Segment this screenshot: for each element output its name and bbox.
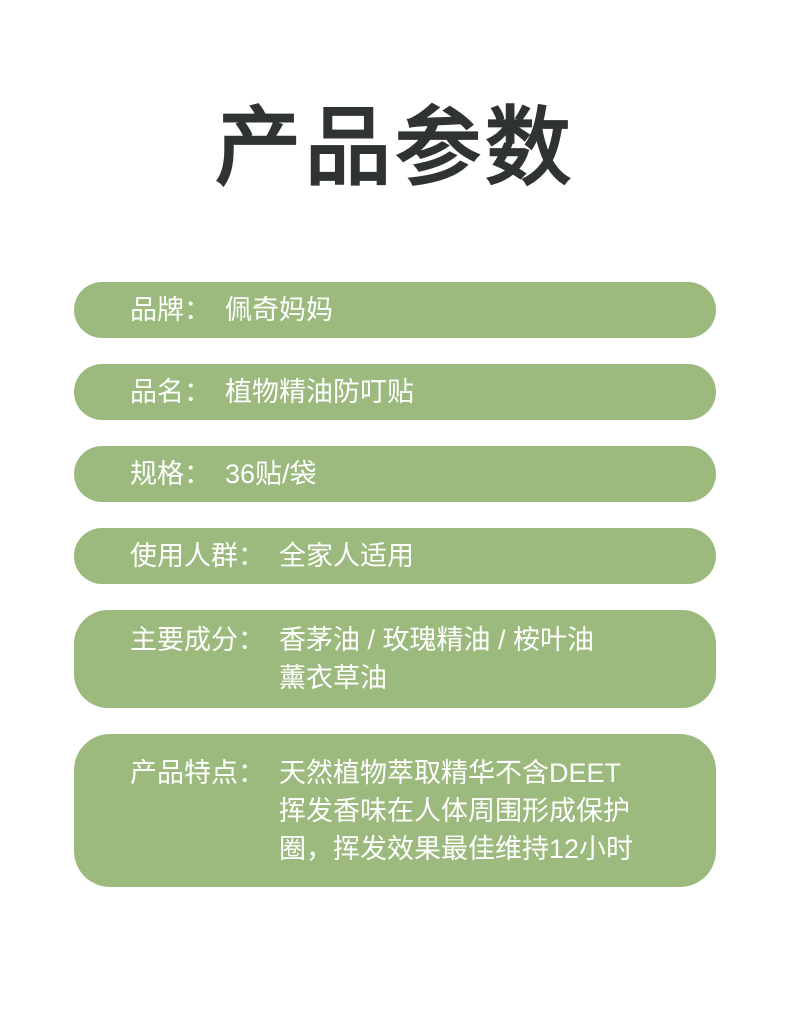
spec-value-line: 全家人适用 xyxy=(279,537,716,575)
spec-label-main-ingredients: 主要成分： xyxy=(130,621,265,659)
spec-label-product-features: 产品特点： xyxy=(130,754,265,792)
spec-value-line: 佩奇妈妈 xyxy=(225,291,716,329)
spec-row-main-ingredients: 主要成分： 香茅油 / 玫瑰精油 / 桉叶油 薰衣草油 xyxy=(74,610,716,708)
spec-row-product-name: 品名： 植物精油防叮贴 xyxy=(74,364,716,420)
spec-row-specification: 规格： 36贴/袋 xyxy=(74,446,716,502)
spec-row-content: 品名： 植物精油防叮贴 xyxy=(130,373,716,411)
spec-values-target-users: 全家人适用 xyxy=(265,537,716,575)
spec-value-line: 天然植物萃取精华不含DEET xyxy=(279,754,716,792)
spec-value-line: 薰衣草油 xyxy=(279,659,716,697)
spec-row-brand: 品牌： 佩奇妈妈 xyxy=(74,282,716,338)
spec-values-brand: 佩奇妈妈 xyxy=(211,291,716,329)
spec-values-product-name: 植物精油防叮贴 xyxy=(211,373,716,411)
product-spec-page: 产品参数 品牌： 佩奇妈妈 品名： 植物精油防叮贴 规格： 3 xyxy=(0,0,790,1020)
spec-row-content: 规格： 36贴/袋 xyxy=(130,455,716,493)
spec-row-content: 主要成分： 香茅油 / 玫瑰精油 / 桉叶油 薰衣草油 xyxy=(130,621,716,697)
spec-row-product-features: 产品特点： 天然植物萃取精华不含DEET 挥发香味在人体周围形成保护 圈，挥发效… xyxy=(74,734,716,887)
spec-value-line: 香茅油 / 玫瑰精油 / 桉叶油 xyxy=(279,621,716,659)
spec-value-line: 36贴/袋 xyxy=(225,455,716,493)
spec-row-target-users: 使用人群： 全家人适用 xyxy=(74,528,716,584)
spec-values-specification: 36贴/袋 xyxy=(211,455,716,493)
spec-label-target-users: 使用人群： xyxy=(130,537,265,575)
spec-value-line: 圈，挥发效果最佳维持12小时 xyxy=(279,830,716,868)
spec-list: 品牌： 佩奇妈妈 品名： 植物精油防叮贴 规格： 36贴/袋 xyxy=(74,282,716,887)
spec-values-main-ingredients: 香茅油 / 玫瑰精油 / 桉叶油 薰衣草油 xyxy=(265,621,716,697)
spec-values-product-features: 天然植物萃取精华不含DEET 挥发香味在人体周围形成保护 圈，挥发效果最佳维持1… xyxy=(265,754,716,868)
page-title: 产品参数 xyxy=(215,100,575,196)
spec-row-content: 使用人群： 全家人适用 xyxy=(130,537,716,575)
spec-value-line: 挥发香味在人体周围形成保护 xyxy=(279,792,716,830)
spec-value-line: 植物精油防叮贴 xyxy=(225,373,716,411)
spec-row-content: 品牌： 佩奇妈妈 xyxy=(130,291,716,329)
spec-label-brand: 品牌： xyxy=(130,291,211,329)
spec-label-product-name: 品名： xyxy=(130,373,211,411)
spec-row-content: 产品特点： 天然植物萃取精华不含DEET 挥发香味在人体周围形成保护 圈，挥发效… xyxy=(130,754,716,868)
spec-label-specification: 规格： xyxy=(130,455,211,493)
page-title-container: 产品参数 xyxy=(0,100,790,196)
